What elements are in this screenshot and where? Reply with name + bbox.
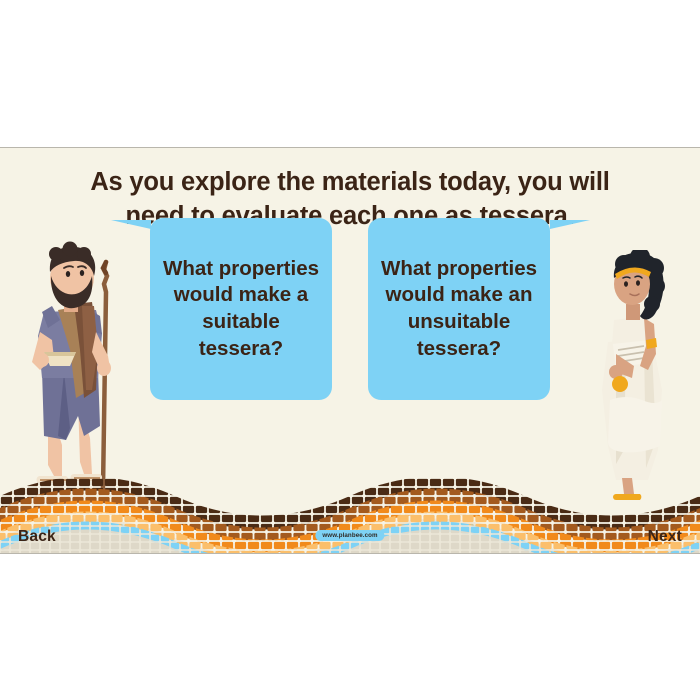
- back-button[interactable]: Back: [18, 528, 56, 546]
- speech-bubble-suitable-text: What properties would make a suitable te…: [159, 256, 323, 363]
- next-button[interactable]: Next: [648, 528, 682, 546]
- speech-bubble-suitable[interactable]: What properties would make a suitable te…: [150, 218, 332, 400]
- roman-man-illustration: [18, 240, 136, 505]
- planbee-watermark: www.planbee.com: [315, 530, 384, 541]
- presentation-slide: As you explore the materials today, you …: [0, 147, 700, 554]
- speech-bubble-tail-right: [550, 220, 590, 229]
- mosaic-layer-beige: [0, 478, 700, 553]
- speech-bubble-unsuitable[interactable]: What properties would make an unsuitable…: [368, 218, 550, 400]
- title-line-1: As you explore the materials today, you …: [40, 166, 660, 200]
- screenshot-canvas: As you explore the materials today, you …: [0, 0, 700, 700]
- speech-bubble-unsuitable-text: What properties would make an unsuitable…: [377, 256, 541, 363]
- speech-bubble-tail-left: [111, 220, 151, 229]
- mosaic-border-decoration: [0, 478, 700, 553]
- roman-woman-illustration: [582, 250, 678, 505]
